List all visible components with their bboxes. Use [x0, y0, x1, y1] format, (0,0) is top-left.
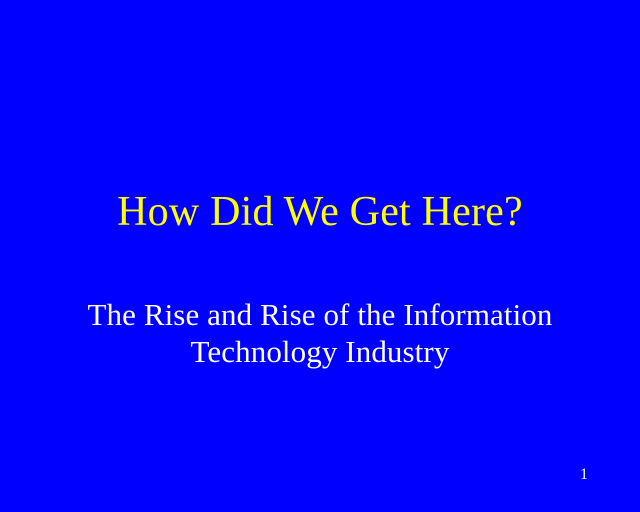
slide-subtitle: The Rise and Rise of the Information Tec… [0, 296, 640, 370]
slide-subtitle-line-2: Technology Industry [0, 333, 640, 370]
slide-subtitle-line-1: The Rise and Rise of the Information [0, 296, 640, 333]
slide-title: How Did We Get Here? [0, 189, 640, 235]
presentation-slide: How Did We Get Here? The Rise and Rise o… [0, 0, 640, 512]
slide-number: 1 [580, 466, 588, 484]
